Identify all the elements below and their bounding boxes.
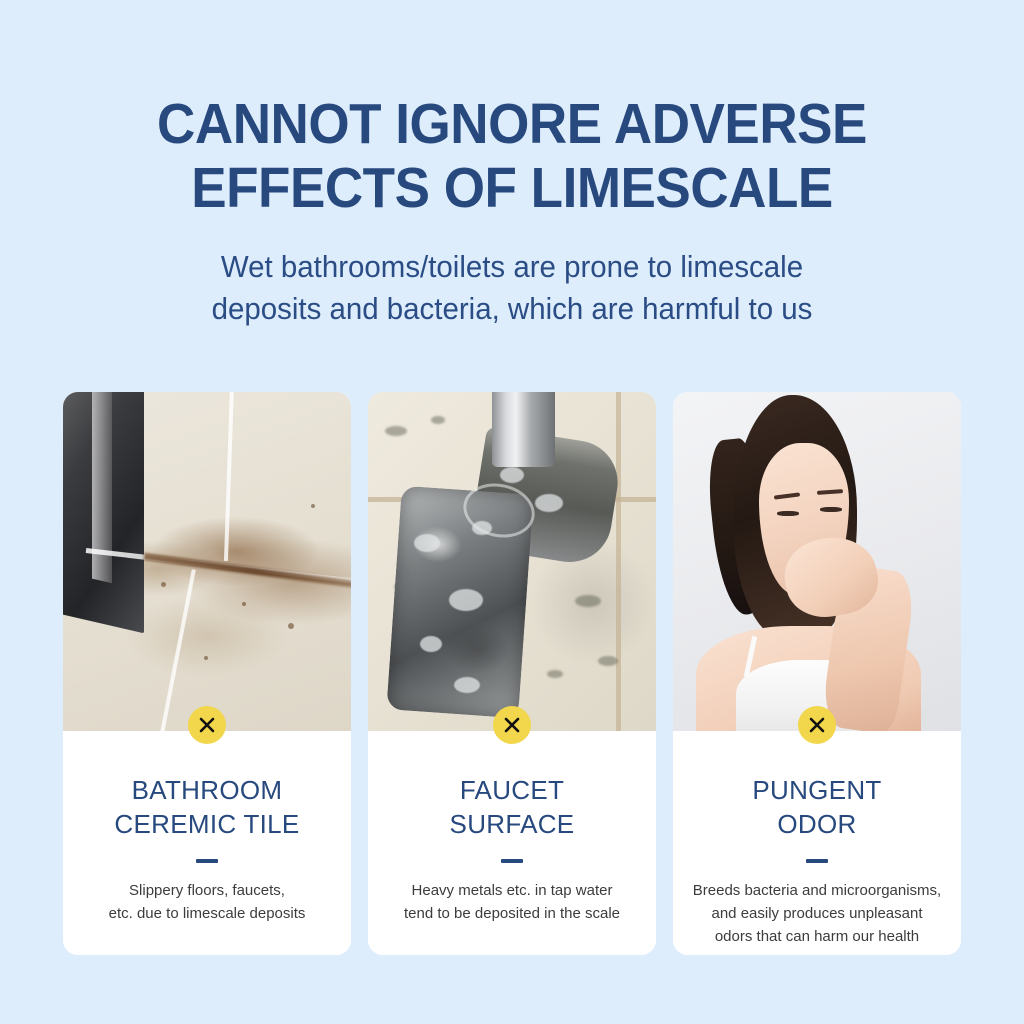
limescale-crust xyxy=(454,677,480,693)
tile-grout-vertical xyxy=(616,392,621,731)
mold-spot xyxy=(385,426,407,436)
photo-bathroom-tile xyxy=(63,392,351,731)
card-pungent-odor[interactable]: PUNGENT ODOR Breeds bacteria and microor… xyxy=(673,392,961,955)
limescale-crust xyxy=(535,494,563,512)
card-bathroom-ceramic-tile[interactable]: BATHROOM CEREMIC TILE Slippery floors, f… xyxy=(63,392,351,955)
card-row: BATHROOM CEREMIC TILE Slippery floors, f… xyxy=(63,392,961,955)
card-title: BATHROOM CEREMIC TILE xyxy=(79,773,335,841)
card-description: Breeds bacteria and microorganisms, and … xyxy=(689,879,945,948)
limescale-crust xyxy=(500,467,524,483)
x-mark-badge xyxy=(493,706,531,744)
eye-left xyxy=(777,511,799,516)
limescale-crust xyxy=(449,589,483,611)
photo-woman-covering-nose xyxy=(673,392,961,731)
grime-speck xyxy=(242,602,246,606)
faucet-pipe-vertical xyxy=(492,392,555,467)
card-description: Heavy metals etc. in tap water tend to b… xyxy=(384,879,640,925)
x-mark-icon xyxy=(197,715,217,735)
card-faucet-surface[interactable]: FAUCET SURFACE Heavy metals etc. in tap … xyxy=(368,392,656,955)
page-subtitle: Wet bathrooms/toilets are prone to limes… xyxy=(26,246,999,330)
title-divider xyxy=(501,859,523,863)
card-text-panel: PUNGENT ODOR Breeds bacteria and microor… xyxy=(673,731,961,955)
limescale-crust xyxy=(472,521,492,535)
mold-spot xyxy=(547,670,563,678)
photo-faucet-limescale xyxy=(368,392,656,731)
x-mark-icon xyxy=(502,715,522,735)
eye-right xyxy=(820,507,842,512)
grime-speck xyxy=(161,582,166,587)
grout-line-vertical-lower xyxy=(159,570,197,731)
card-text-panel: BATHROOM CEREMIC TILE Slippery floors, f… xyxy=(63,731,351,955)
header-section: CANNOT IGNORE ADVERSE EFFECTS OF LIMESCA… xyxy=(0,0,1024,330)
mold-spot xyxy=(575,595,601,607)
card-text-panel: FAUCET SURFACE Heavy metals etc. in tap … xyxy=(368,731,656,955)
card-title: FAUCET SURFACE xyxy=(384,773,640,841)
page-title: CANNOT IGNORE ADVERSE EFFECTS OF LIMESCA… xyxy=(36,92,988,220)
title-divider xyxy=(196,859,218,863)
x-mark-icon xyxy=(807,715,827,735)
grime-speck xyxy=(311,504,315,508)
grime-speck xyxy=(288,623,294,629)
title-divider xyxy=(806,859,828,863)
limescale-crust xyxy=(420,636,442,652)
grime-speck xyxy=(204,656,208,660)
card-title: PUNGENT ODOR xyxy=(689,773,945,841)
x-mark-badge xyxy=(188,706,226,744)
mold-spot xyxy=(431,416,445,424)
card-description: Slippery floors, faucets, etc. due to li… xyxy=(79,879,335,925)
x-mark-badge xyxy=(798,706,836,744)
grime-line xyxy=(143,553,351,589)
grout-line-vertical-upper xyxy=(224,392,234,562)
